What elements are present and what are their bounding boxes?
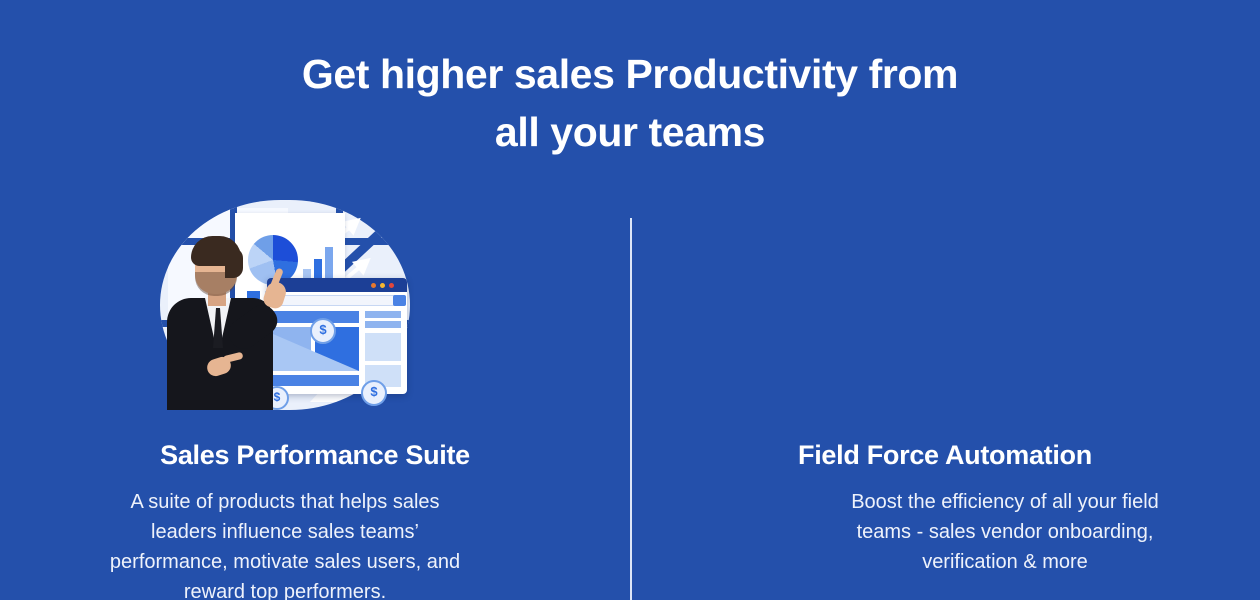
dollar-coin-icon: $ bbox=[361, 380, 387, 406]
window-close-icon bbox=[389, 283, 394, 288]
feature-card-field-force-automation[interactable]: Field Force Automation Boost the efficie… bbox=[630, 190, 1260, 600]
card-title-field-force-automation: Field Force Automation bbox=[630, 440, 1260, 471]
card-body-sales-performance-suite: A suite of products that helps sales lea… bbox=[105, 487, 465, 600]
feature-columns: $ $ $ $ bbox=[0, 190, 1260, 600]
businessman-pointing-figure bbox=[161, 228, 293, 410]
dollar-coin-icon: $ bbox=[310, 318, 336, 344]
browser-block bbox=[365, 333, 401, 361]
sales-performance-illustration: $ $ $ $ bbox=[155, 200, 415, 410]
landing-section: Get higher sales Productivity from all y… bbox=[0, 0, 1260, 600]
browser-block bbox=[365, 311, 401, 318]
window-dot-icon bbox=[380, 283, 385, 288]
card-title-sales-performance-suite: Sales Performance Suite bbox=[0, 440, 630, 471]
feature-card-sales-performance-suite[interactable]: $ $ $ $ bbox=[0, 190, 630, 600]
page-title: Get higher sales Productivity from all y… bbox=[0, 45, 1260, 161]
heading-line-1: Get higher sales Productivity from bbox=[302, 51, 958, 97]
figure-hair bbox=[225, 248, 243, 278]
heading-line-2: all your teams bbox=[0, 103, 1260, 161]
card-body-field-force-automation: Boost the efficiency of all your field t… bbox=[845, 487, 1165, 577]
browser-block bbox=[365, 321, 401, 328]
window-dot-icon bbox=[371, 283, 376, 288]
search-icon bbox=[393, 295, 406, 306]
